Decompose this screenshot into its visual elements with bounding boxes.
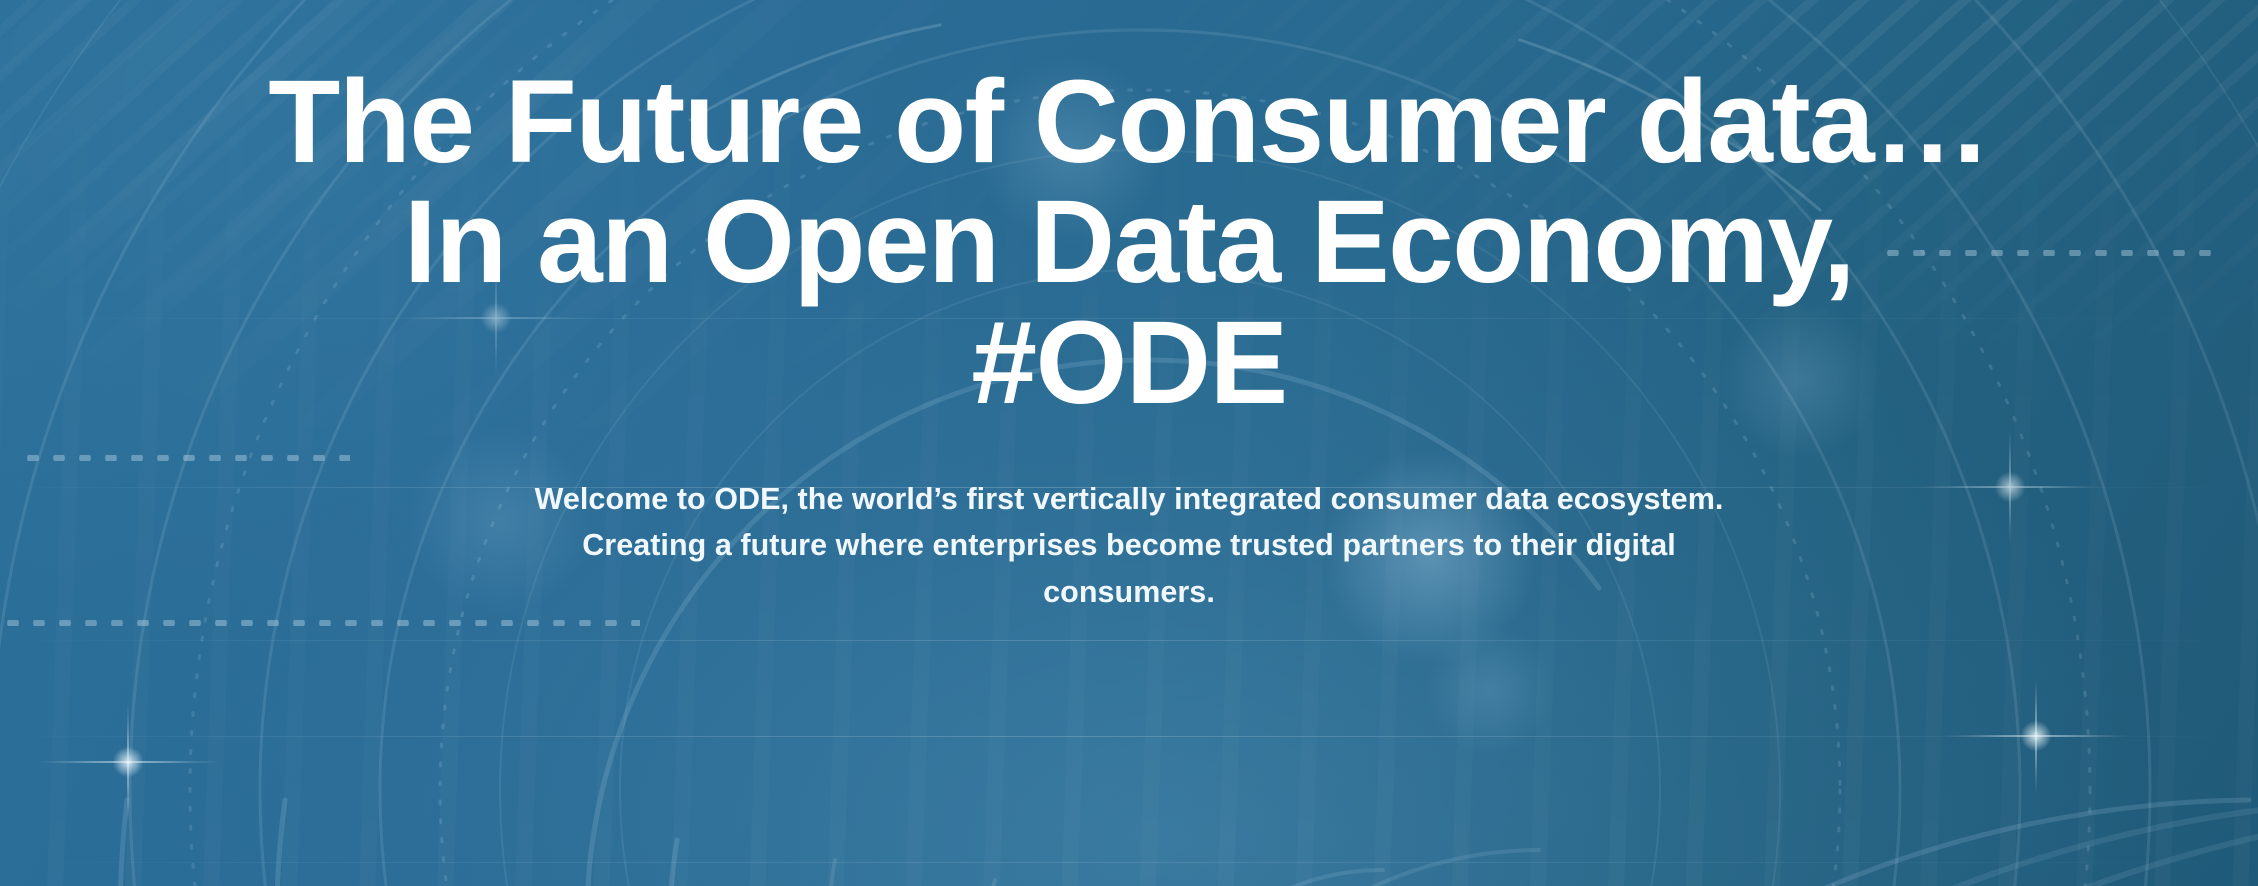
- subcopy-line-2: Creating a future where enterprises beco…: [529, 522, 1729, 568]
- subcopy-line-3: consumers.: [529, 569, 1729, 615]
- headline-line-3: #ODE: [22, 303, 2236, 423]
- page-title: The Future of Consumer data… In an Open …: [0, 62, 2258, 423]
- headline-line-2: In an Open Data Economy,: [22, 182, 2236, 302]
- hero-banner: The Future of Consumer data… In an Open …: [0, 0, 2258, 886]
- hero-content: The Future of Consumer data… In an Open …: [0, 0, 2258, 886]
- hero-subcopy: Welcome to ODE, the world’s first vertic…: [529, 423, 1729, 615]
- headline-line-1: The Future of Consumer data…: [22, 62, 2236, 182]
- subcopy-line-1: Welcome to ODE, the world’s first vertic…: [529, 476, 1729, 522]
